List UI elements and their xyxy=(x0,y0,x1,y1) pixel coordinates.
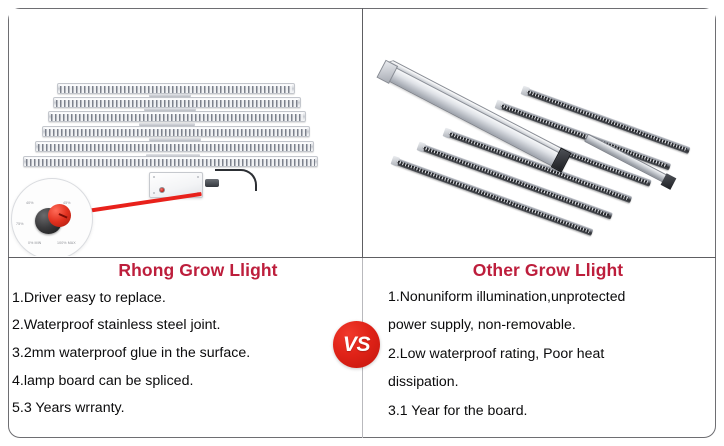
dimmer-knob xyxy=(35,203,71,236)
list-item: 1.Driver easy to replace. xyxy=(10,291,360,305)
led-bar xyxy=(35,141,314,152)
support-rail xyxy=(146,154,200,157)
list-item: 2.Low waterproof rating, Poor heat xyxy=(366,346,716,360)
quantum-bar-assembly: 40% 75% 45% 0% MIN 100% MAX xyxy=(9,9,361,256)
list-item: power supply, non-removable. xyxy=(366,317,716,331)
power-cable xyxy=(215,169,257,191)
support-rail xyxy=(144,108,196,111)
dimmer-knob-zoom-circle: 40% 75% 45% 0% MIN 100% MAX xyxy=(11,178,93,256)
dial-label-min: 0% MIN xyxy=(28,241,41,245)
list-item: 3.1 Year for the board. xyxy=(366,403,716,417)
list-item: 1.Nonuniform illumination,unprotected xyxy=(366,289,716,303)
support-rail xyxy=(139,123,195,126)
list-item: 4.lamp board can be spliced. xyxy=(10,374,360,388)
list-item: dissipation. xyxy=(366,374,716,388)
led-bar xyxy=(53,97,301,108)
led-bar xyxy=(23,156,318,167)
led-bar xyxy=(42,126,310,137)
vs-badge: VS xyxy=(333,321,380,368)
right-product-image xyxy=(364,9,715,256)
support-rail xyxy=(149,138,201,141)
right-feature-list: 1.Nonuniform illumination,unprotected po… xyxy=(366,289,716,417)
led-bar xyxy=(57,83,295,94)
dial-label-max: 100% MAX xyxy=(57,241,76,245)
list-item: 5.3 Years wrranty. xyxy=(10,401,360,415)
right-column-title: Other Grow Llight xyxy=(366,262,716,280)
support-rail xyxy=(149,94,191,97)
dial-label-40: 40% xyxy=(26,201,34,205)
bar-light-fixture xyxy=(364,9,715,256)
vertical-divider-top xyxy=(362,8,363,257)
dial-label-75: 75% xyxy=(16,222,24,226)
right-text-panel: Other Grow Llight 1.Nonuniform illuminat… xyxy=(366,259,716,437)
list-item: 2.Waterproof stainless steel joint. xyxy=(10,318,360,332)
left-column-title: Rhong Grow Llight xyxy=(10,262,360,280)
comparison-infographic: 40% 75% 45% 0% MIN 100% MAX xyxy=(0,0,724,446)
left-text-panel: Rhong Grow Llight 1.Driver easy to repla… xyxy=(10,259,360,437)
left-feature-list: 1.Driver easy to replace. 2.Waterproof s… xyxy=(10,291,360,416)
left-product-image: 40% 75% 45% 0% MIN 100% MAX xyxy=(9,9,361,256)
led-bar xyxy=(48,111,306,122)
vs-badge-label: VS xyxy=(343,334,370,355)
dimmer-knob-port-icon xyxy=(159,187,165,193)
list-item: 3.2mm waterproof glue in the surface. xyxy=(10,346,360,360)
